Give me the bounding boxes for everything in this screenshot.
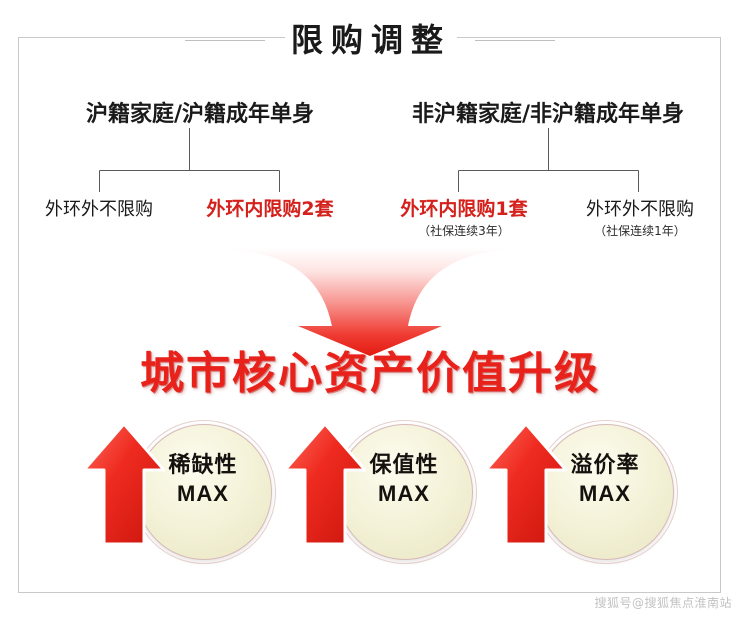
badge-premium-rate: 溢价率 MAX (482, 418, 682, 568)
title-rule-left (185, 40, 265, 41)
leaf-subnote: （社保连续1年） (552, 225, 728, 238)
watermark: 搜狐号@搜狐焦点淮南站 (594, 594, 732, 611)
badge-scarcity: 稀缺性 MAX (80, 418, 280, 568)
title-text: 限购调整 (285, 24, 457, 56)
badge-label-max: MAX (538, 480, 672, 509)
title-rule-right (475, 40, 555, 41)
funnel-down-arrow-icon (232, 248, 508, 358)
badge-row: 稀缺性 MAX 保值性 MAX (0, 418, 740, 568)
leaf-subnote: （社保连续3年） (376, 225, 552, 238)
leaf-non-hu-outer-ring: 外环外不限购 （社保连续1年） (552, 200, 728, 238)
badge-caption: 溢价率 MAX (538, 452, 672, 508)
main-headline: 城市核心资产价值升级 (0, 352, 740, 396)
group-heading-non-hu: 非沪籍家庭/非沪籍成年单身 (374, 96, 722, 128)
leaf-label: 外环外不限购 (14, 200, 184, 221)
poster-canvas: 限购调整 沪籍家庭/沪籍成年单身 非沪籍家庭/非沪籍成年单身 外环外不限购 外环… (0, 0, 740, 617)
leaf-hu-outer-ring: 外环外不限购 (14, 200, 184, 221)
badge-value-retention: 保值性 MAX (281, 418, 481, 568)
leaf-hu-inner-ring: 外环内限购2套 (180, 199, 360, 221)
group-heading-hu: 沪籍家庭/沪籍成年单身 (30, 96, 370, 128)
leaf-label: 外环外不限购 (552, 200, 728, 221)
badge-label-cn: 稀缺性 (136, 452, 270, 480)
badge-label-max: MAX (136, 480, 270, 509)
leaf-label: 外环内限购2套 (180, 199, 360, 221)
badge-label-cn: 保值性 (337, 452, 471, 480)
badge-label-cn: 溢价率 (538, 452, 672, 480)
leaf-label: 外环内限购1套 (376, 199, 552, 221)
leaf-non-hu-inner-ring: 外环内限购1套 （社保连续3年） (376, 199, 552, 238)
badge-caption: 保值性 MAX (337, 452, 471, 508)
badge-label-max: MAX (337, 480, 471, 509)
poster-title: 限购调整 (0, 16, 740, 64)
badge-caption: 稀缺性 MAX (136, 452, 270, 508)
